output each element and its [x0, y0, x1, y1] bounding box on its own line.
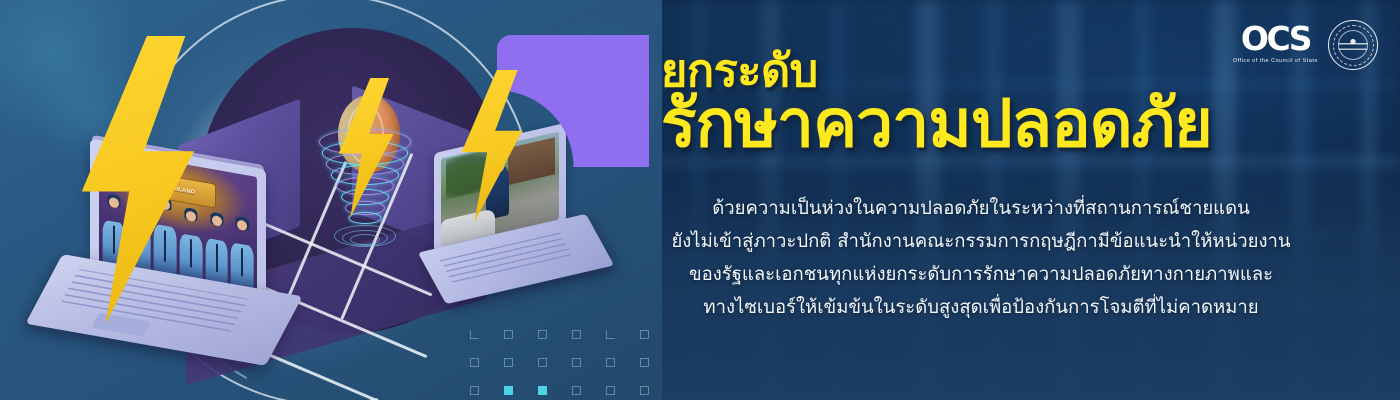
ocs-logo: OCS Office of the Council of State: [1233, 18, 1318, 64]
body-line-2: ยังไม่เข้าสู่ภาวะปกติ สำนักงานคณะกรรมการ…: [657, 225, 1305, 258]
ocs-tagline: Office of the Council of State: [1233, 58, 1318, 64]
body-line-4: ทางไซเบอร์ให้เข้มข้นในระดับสูงสุดเพื่อป้…: [657, 291, 1305, 324]
purple-arc-shape: [497, 35, 649, 167]
decorative-dot-grid: [470, 330, 662, 400]
ocs-wordmark: OCS: [1233, 22, 1318, 55]
security-banner: THAILAND: [0, 0, 1400, 400]
body-line-1: ด้วยความเป็นห่วงในความปลอดภัยในระหว่างที…: [657, 192, 1305, 225]
body-text: ด้วยความเป็นห่วงในความปลอดภัยในระหว่างที…: [657, 192, 1305, 324]
content-panel: OCS Office of the Council of State ยกระด…: [645, 0, 1400, 400]
logo-group: OCS Office of the Council of State: [1233, 18, 1378, 70]
government-seal-icon: [1328, 20, 1378, 70]
headline: ยกระดับ รักษาความปลอดภัย: [661, 48, 1212, 157]
headline-line-2: รักษาความปลอดภัย: [661, 91, 1212, 157]
body-line-3: ของรัฐและเอกชนทุกแห่งยกระดับการรักษาความ…: [657, 258, 1305, 291]
illustration-panel: THAILAND: [0, 0, 662, 400]
